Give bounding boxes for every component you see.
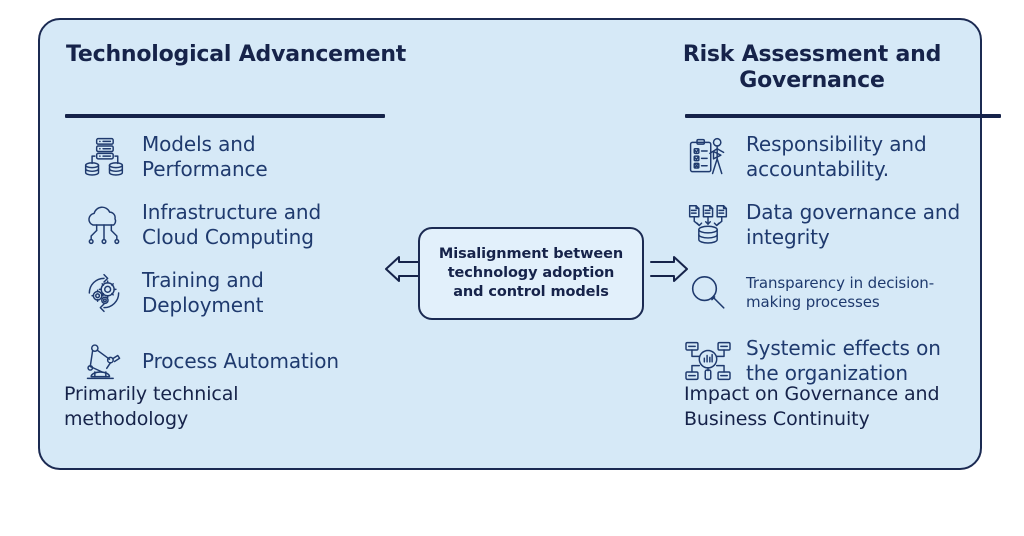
list-item-label: Systemic effects on the organization: [746, 336, 976, 386]
list-item: Data governance and integrity: [684, 198, 1020, 252]
list-item: Responsibility and accountability.: [684, 130, 1020, 184]
list-item-label: Data governance and integrity: [746, 200, 976, 250]
center-callout-box: Misalignment between technology adoption…: [418, 227, 644, 320]
org-chart-magnifier-icon: [684, 337, 732, 385]
right-column-title: Risk Assessment and Governance: [644, 42, 980, 94]
comparison-card: Technological Advancement: [38, 18, 982, 470]
list-item-label: Process Automation: [142, 349, 339, 374]
server-database-icon: [80, 133, 128, 181]
list-item: Transparency in decision-making processe…: [684, 266, 1020, 320]
clipboard-person-icon: [684, 133, 732, 181]
list-item: Models and Performance: [80, 130, 440, 184]
left-column: Technological Advancement: [64, 20, 424, 468]
list-item: Process Automation: [80, 334, 440, 388]
list-item: Systemic effects on the organization: [684, 334, 1020, 388]
left-column-footer: Primarily technical methodology: [64, 382, 364, 432]
right-column-items: Responsibility and accountability.: [644, 130, 1020, 402]
right-column-divider: [685, 114, 1001, 118]
double-arrow-right-icon: [649, 256, 689, 282]
left-column-title: Technological Advancement: [64, 42, 426, 68]
list-item-label: Responsibility and accountability.: [746, 132, 976, 182]
list-item-label: Transparency in decision-making processe…: [746, 274, 976, 312]
robot-arm-icon: [80, 337, 128, 385]
left-column-divider: [65, 114, 385, 118]
list-item-label: Infrastructure and Cloud Computing: [142, 200, 372, 250]
diagram-canvas: Technological Advancement: [0, 0, 1024, 536]
list-item: Infrastructure and Cloud Computing: [80, 198, 440, 252]
center-callout-text: Misalignment between technology adoption…: [432, 245, 630, 302]
list-item-label: Models and Performance: [142, 132, 372, 182]
magnifier-icon: [684, 269, 732, 317]
cloud-network-icon: [80, 201, 128, 249]
list-item-label: Training and Deployment: [142, 268, 372, 318]
gears-cycle-icon: [80, 269, 128, 317]
right-column: Risk Assessment and Governance: [644, 20, 980, 468]
documents-database-icon: [684, 201, 732, 249]
right-column-footer: Impact on Governance and Business Contin…: [684, 382, 980, 432]
